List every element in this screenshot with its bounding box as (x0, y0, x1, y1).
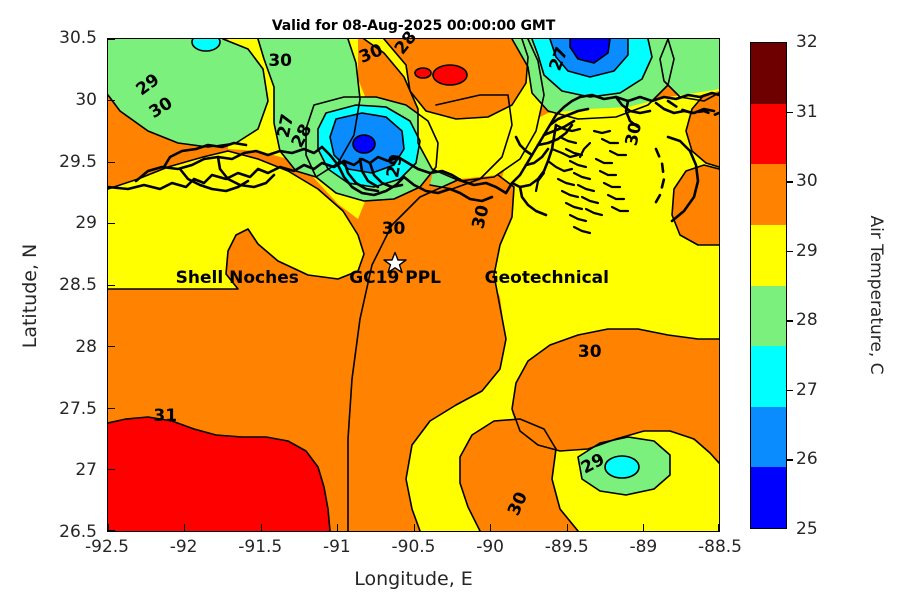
x-tick-label: -91 (323, 537, 351, 557)
chart-title: Valid for 08-Aug-2025 00:00:00 GMT (107, 18, 720, 34)
y-tick (108, 285, 115, 286)
x-tick-label: -89.5 (545, 537, 589, 557)
x-tick-label: -88.5 (698, 537, 742, 557)
air-temperature-contour-map: Valid for 08-Aug-2025 00:00:00 GMT (0, 0, 900, 600)
y-tick-label: 30 (0, 90, 97, 110)
x-tick (567, 524, 568, 531)
x-tick-label: -90 (476, 537, 504, 557)
y-tick (108, 346, 115, 347)
colorbar-tick (787, 320, 793, 321)
station-star-icon (383, 251, 407, 275)
x-tick-label: -91.5 (238, 537, 282, 557)
colorbar-tick (787, 251, 793, 252)
colorbar[interactable] (750, 42, 787, 529)
x-tick-label: -92 (170, 537, 198, 557)
y-tick-label: 30.5 (0, 28, 97, 48)
x-tick (184, 524, 185, 531)
y-tick-label: 27 (0, 460, 97, 480)
x-tick-label: -90.5 (392, 537, 436, 557)
y-tick-label: 28.5 (0, 275, 97, 295)
x-tick (414, 524, 415, 531)
colorbar-band (751, 225, 786, 286)
x-tick (337, 524, 338, 531)
y-tick (108, 100, 115, 101)
colorbar-band (751, 407, 786, 468)
colorbar-tick (787, 181, 793, 182)
colorbar-tick-label: 29 (796, 241, 818, 261)
y-tick (108, 408, 115, 409)
x-axis-title: Longitude, E (107, 568, 720, 590)
colorbar-band (751, 467, 786, 528)
colorbar-band (751, 346, 786, 407)
station-label[interactable]: Shell Noches (176, 268, 299, 288)
colorbar-tick-label: 28 (796, 310, 818, 330)
y-axis-title: Latitude, N (19, 176, 41, 416)
y-tick (108, 469, 115, 470)
y-tick-label: 29.5 (0, 152, 97, 172)
y-tick-label: 26.5 (0, 522, 97, 542)
colorbar-tick-label: 32 (796, 32, 818, 52)
colorbar-tick-label: 25 (796, 519, 818, 539)
y-tick (108, 530, 115, 531)
colorbar-tick-label: 27 (796, 380, 818, 400)
x-tick (490, 524, 491, 531)
colorbar-band (751, 104, 786, 165)
x-tick (261, 524, 262, 531)
colorbar-tick (787, 112, 793, 113)
colorbar-tick-label: 26 (796, 449, 818, 469)
colorbar-tick (787, 459, 793, 460)
y-tick-label: 29 (0, 213, 97, 233)
colorbar-band (751, 286, 786, 347)
colorbar-band (751, 43, 786, 104)
colorbar-tick (787, 390, 793, 391)
colorbar-band (751, 164, 786, 225)
station-label[interactable]: Geotechnical (485, 268, 609, 288)
y-tick-label: 28 (0, 337, 97, 357)
x-tick (643, 524, 644, 531)
y-tick (108, 162, 115, 163)
x-tick-label: -89 (629, 537, 657, 557)
colorbar-title: Air Temperature, C (866, 155, 886, 435)
colorbar-tick-label: 31 (796, 102, 818, 122)
x-tick (718, 524, 719, 531)
colorbar-tick-label: 30 (796, 171, 818, 191)
y-tick (108, 223, 115, 224)
y-tick (108, 39, 115, 40)
y-tick-label: 27.5 (0, 399, 97, 419)
